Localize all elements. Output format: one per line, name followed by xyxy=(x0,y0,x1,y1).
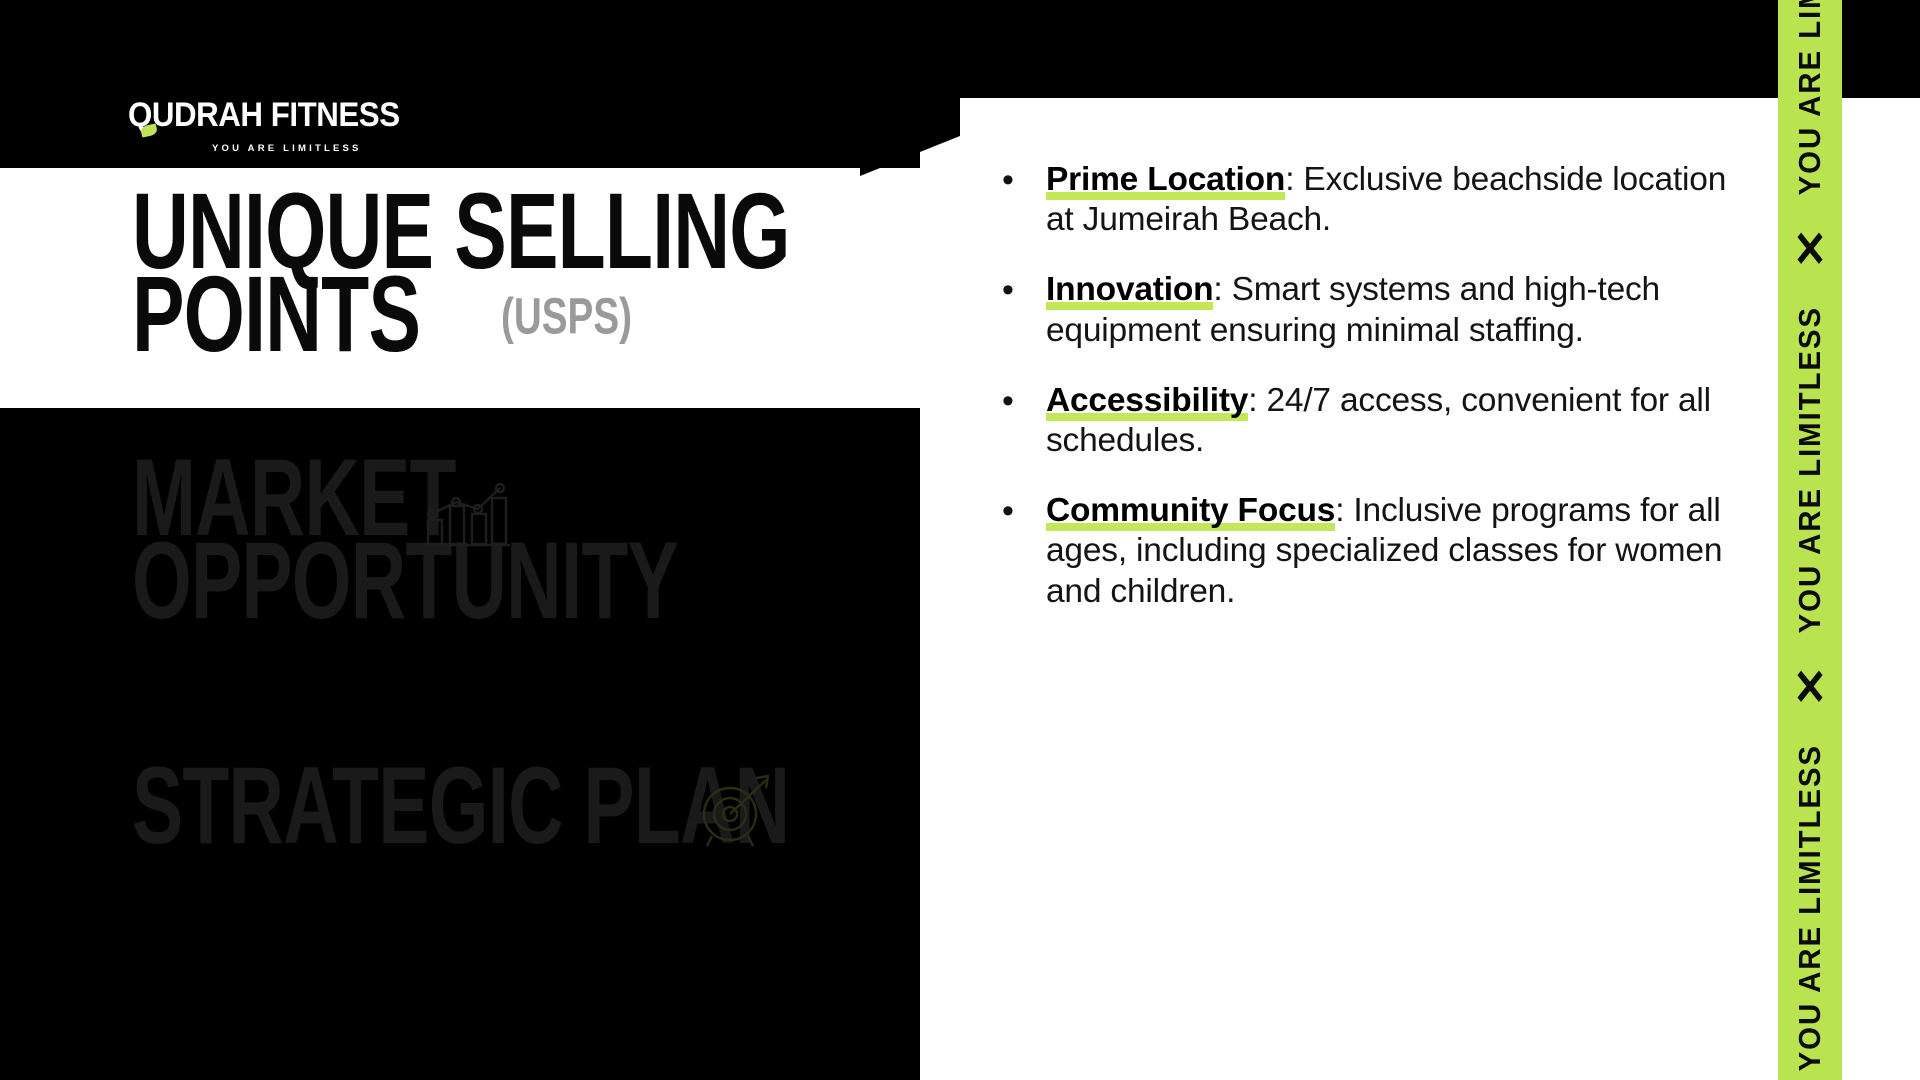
hourglass-separator-icon: ✕ xyxy=(1793,660,1827,718)
slide-canvas: QUDRAH FITNESS YOU ARE LIMITLESS UNIQUE … xyxy=(0,0,1920,1080)
bullet-text: Prime Location: Exclusive beachside loca… xyxy=(1046,160,1730,240)
logo-wordmark: QUDRAH FITNESS xyxy=(128,96,400,135)
target-icon xyxy=(694,770,780,855)
list-item: • Accessibility: 24/7 access, convenient… xyxy=(990,381,1730,461)
page-title-suffix: (USPS) xyxy=(501,290,632,341)
bullet-text: Community Focus: Inclusive programs for … xyxy=(1046,491,1730,612)
side-ribbon-track: YOU ARE LIMITLESS ✕ YOU ARE LIMITLESS ✕ … xyxy=(1778,0,1842,1080)
bullet-term: Innovation xyxy=(1046,271,1213,310)
bullet-separator: : xyxy=(1285,161,1294,198)
page-title-line2: POINTS xyxy=(132,269,420,361)
ghost-section-strategic-plan: STRATEGIC PLAN xyxy=(132,760,954,843)
bullet-text: Accessibility: 24/7 access, convenient f… xyxy=(1046,381,1730,461)
top-black-strip xyxy=(920,0,1900,98)
bullet-marker: • xyxy=(990,381,1046,421)
bullet-term: Accessibility xyxy=(1046,382,1248,421)
hourglass-separator-icon: ✕ xyxy=(1793,222,1827,280)
bar-chart-icon xyxy=(422,476,510,555)
bullet-marker: • xyxy=(990,270,1046,310)
bullet-term: Community Focus xyxy=(1046,492,1335,531)
list-item: • Innovation: Smart systems and high-tec… xyxy=(990,270,1730,350)
bullet-list: • Prime Location: Exclusive beachside lo… xyxy=(990,160,1730,612)
bullet-marker: • xyxy=(990,491,1046,531)
ghost-market-line2: OPPORTUNITY xyxy=(132,535,678,629)
ghost-strategic-line1: STRATEGIC PLAN xyxy=(132,760,789,854)
logo-mark: QUDRAH FITNESS xyxy=(128,96,423,135)
bullet-separator: : xyxy=(1248,382,1257,419)
list-item: • Community Focus: Inclusive programs fo… xyxy=(990,491,1730,612)
side-ribbon-phrase: YOU ARE LIMITLESS xyxy=(1792,306,1828,633)
side-ribbon-phrase: YOU ARE LIMITLESS xyxy=(1792,744,1828,1071)
side-ribbon-phrase: YOU ARE LIMITLESS xyxy=(1792,0,1828,195)
side-ribbon: YOU ARE LIMITLESS ✕ YOU ARE LIMITLESS ✕ … xyxy=(1778,0,1842,1080)
bullet-term: Prime Location xyxy=(1046,161,1285,200)
strip-top-black-corner xyxy=(1842,0,1920,98)
bullet-text: Innovation: Smart systems and high-tech … xyxy=(1046,270,1730,350)
brand-logo: QUDRAH FITNESS YOU ARE LIMITLESS xyxy=(128,96,423,154)
bullet-marker: • xyxy=(990,160,1046,200)
bullet-separator: : xyxy=(1335,492,1344,529)
list-item: • Prime Location: Exclusive beachside lo… xyxy=(990,160,1730,240)
page-title: UNIQUE SELLING POINTS (USPS) xyxy=(132,186,934,351)
logo-tagline: YOU ARE LIMITLESS xyxy=(212,143,423,154)
